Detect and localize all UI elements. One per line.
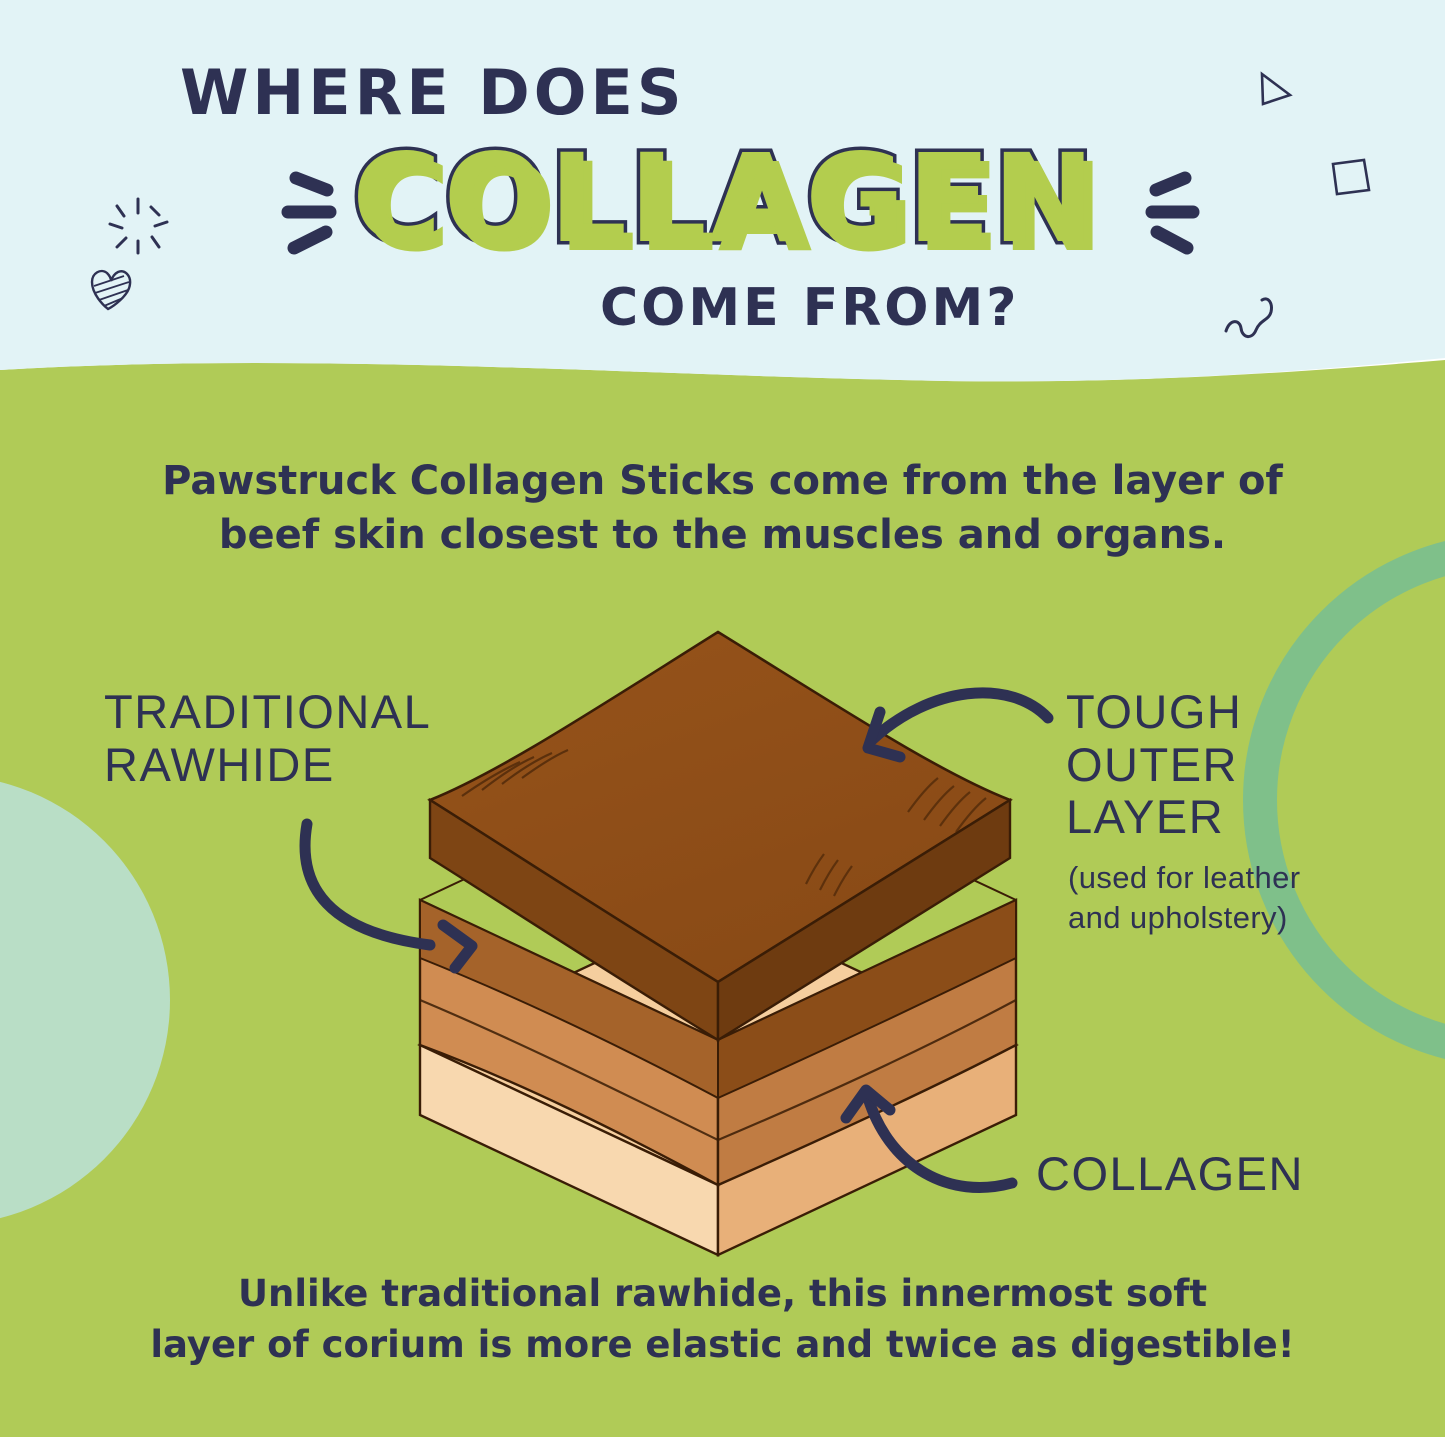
label-tough-outer-layer: TOUGH OUTER LAYER [1066, 686, 1396, 844]
intro-line-2: beef skin closest to the muscles and org… [120, 509, 1325, 563]
label-tough-line-3: LAYER [1066, 791, 1396, 844]
striped-heart-icon [92, 271, 130, 309]
intro-line-1: Pawstruck Collagen Sticks come from the … [120, 455, 1325, 509]
outro-line-1: Unlike traditional rawhide, this innermo… [120, 1268, 1325, 1319]
label-rawhide-line-2: RAWHIDE [104, 739, 524, 792]
label-tough-outer-sublabel: (used for leather and upholstery) [1068, 858, 1398, 939]
intro-paragraph: Pawstruck Collagen Sticks come from the … [120, 455, 1325, 562]
speed-lines-right-icon [1152, 178, 1193, 248]
label-tough-line-2: OUTER [1066, 739, 1396, 792]
label-tough-line-1: TOUGH [1066, 686, 1396, 739]
squiggle-icon [1226, 299, 1271, 337]
infographic-root: WHERE DOES COLLAGEN COME FROM? Pawstruck… [0, 0, 1445, 1437]
label-rawhide-line-1: TRADITIONAL [104, 686, 524, 739]
speed-lines-left-icon [288, 178, 330, 248]
outro-line-2: layer of corium is more elastic and twic… [120, 1319, 1325, 1370]
label-collagen: COLLAGEN [1036, 1148, 1376, 1201]
square-outline-icon [1333, 160, 1369, 194]
label-tough-sub-line-2: and upholstery) [1068, 898, 1398, 938]
label-tough-sub-line-1: (used for leather [1068, 858, 1398, 898]
header-decorations [0, 0, 1445, 400]
header-band: WHERE DOES COLLAGEN COME FROM? [0, 0, 1445, 400]
outro-paragraph: Unlike traditional rawhide, this innermo… [120, 1268, 1325, 1370]
label-traditional-rawhide: TRADITIONAL RAWHIDE [104, 686, 524, 791]
triangle-outline-icon [1262, 74, 1290, 104]
sparkle-burst-icon [110, 199, 167, 253]
